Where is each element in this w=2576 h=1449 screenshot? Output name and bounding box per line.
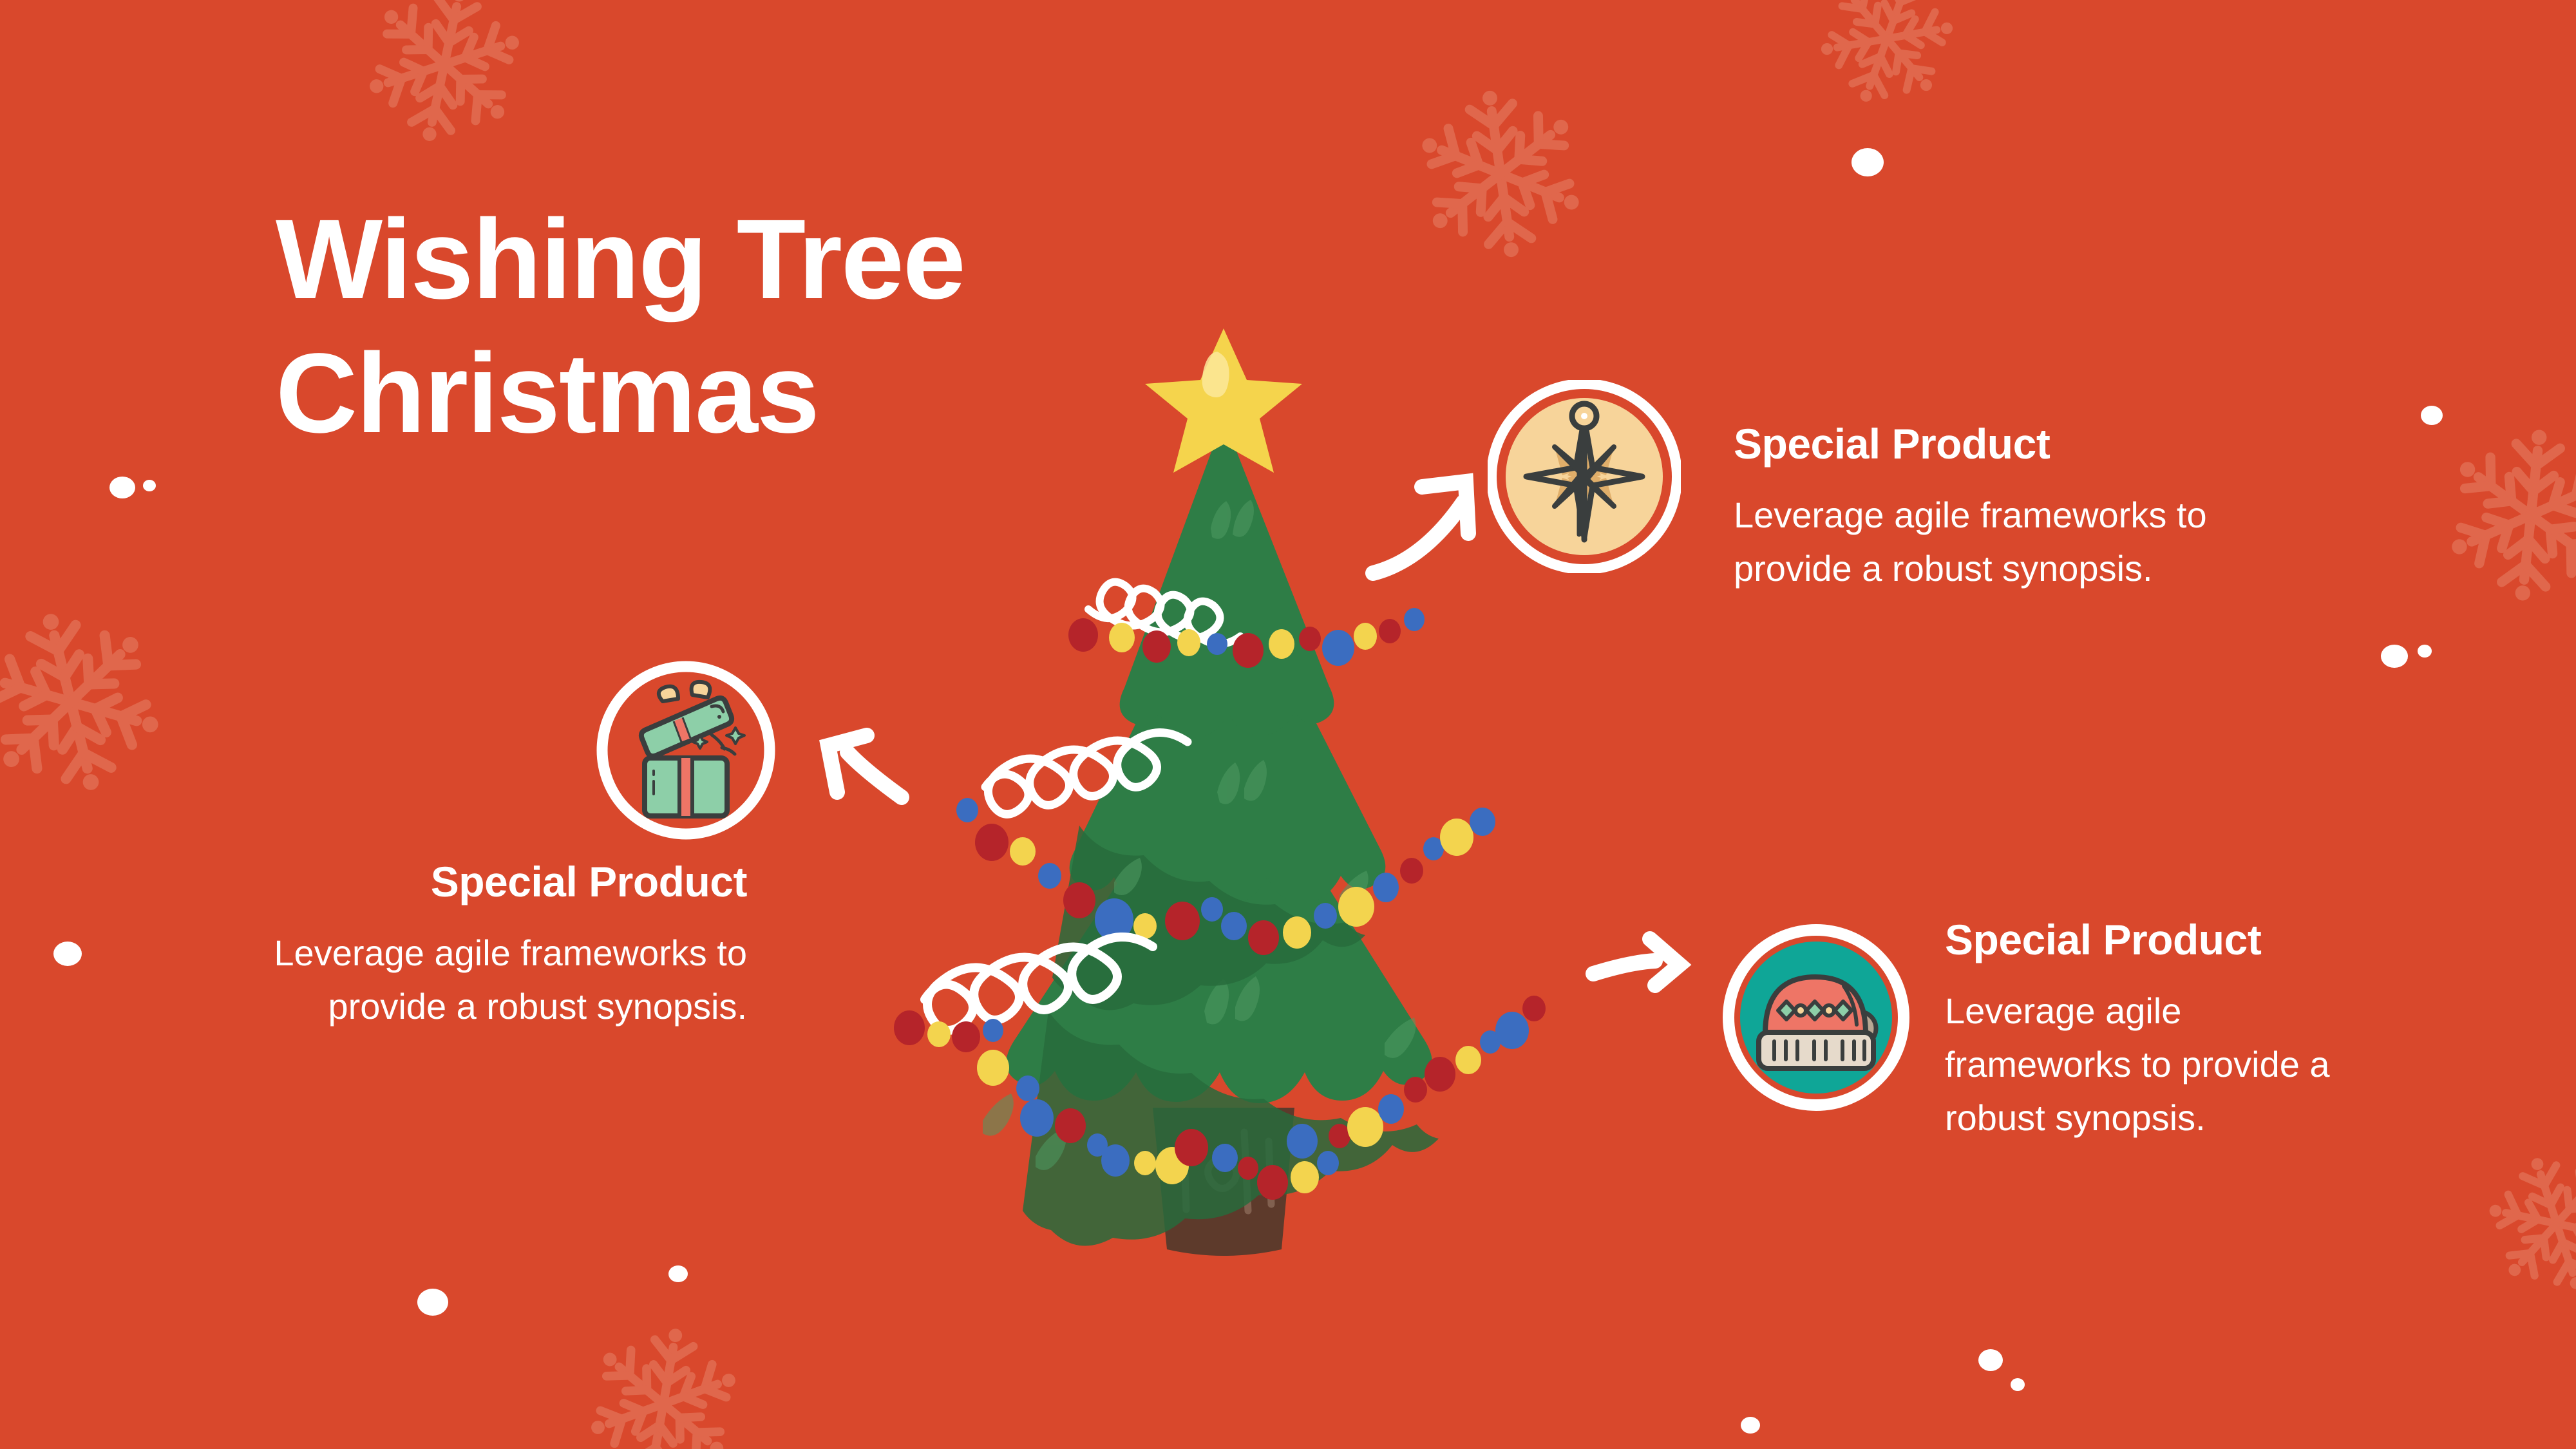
feature-block-star: Special Product Leverage agile framework… <box>1734 419 2262 596</box>
christmas-infographic-slide: Wishing Tree Christmas <box>0 0 2576 1449</box>
feature-block-hat: Special Product Leverage agile framework… <box>1945 914 2370 1145</box>
feature-heading-gift: Special Product <box>193 857 747 907</box>
star-ornament-badge[interactable] <box>1488 380 1681 573</box>
gift-box-badge[interactable] <box>596 660 776 840</box>
arrow-right-icon <box>1571 927 1739 1037</box>
arrow-up-left-icon <box>792 728 979 876</box>
feature-body-gift: Leverage agile frameworks to provide a r… <box>193 927 747 1034</box>
tree-tier-top <box>1120 419 1334 738</box>
gift-box-icon <box>641 682 744 816</box>
feature-body-hat: Leverage agile frameworks to provide a r… <box>1945 985 2370 1145</box>
feature-block-gift: Special Product Leverage agile framework… <box>193 857 747 1034</box>
title-line-1: Wishing Tree <box>276 193 1177 327</box>
feature-heading-hat: Special Product <box>1945 914 2370 965</box>
feature-heading-star: Special Product <box>1734 419 2262 469</box>
winter-hat-badge[interactable] <box>1723 924 1909 1111</box>
feature-body-star: Leverage agile frameworks to provide a r… <box>1734 489 2223 596</box>
